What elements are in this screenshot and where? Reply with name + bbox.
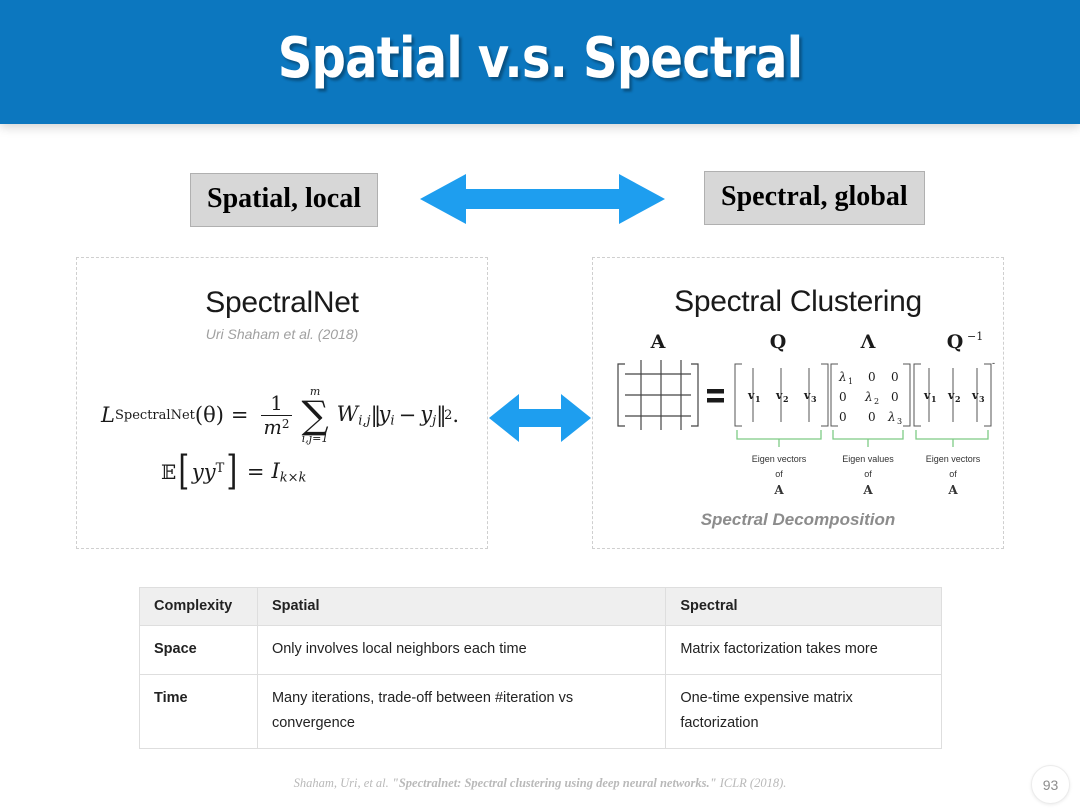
- double-arrow-icon: [420, 172, 665, 226]
- spectralnet-loss-formula: LSpectralNet(θ) = 1 m2 m ∑ i,j=1 Wi,j ‖ …: [101, 386, 469, 444]
- spectral-global-box: Spectral, global: [704, 171, 925, 225]
- page-title: Spatial v.s. Spectral: [76, 26, 1005, 91]
- eigenvector-v2: v: [775, 389, 783, 402]
- page-number-badge: 93: [1031, 765, 1070, 804]
- formula-theta-arg: (θ): [195, 403, 224, 427]
- brace-label-3-line2: of: [949, 469, 957, 479]
- svg-text:1: 1: [931, 394, 937, 404]
- table-row-label-space: Space: [140, 626, 258, 674]
- table-header-spectral: Spectral: [666, 588, 942, 626]
- spatial-local-box: Spatial, local: [190, 173, 378, 227]
- inverse-exponent: -1: [992, 359, 995, 369]
- spectralnet-title: SpectralNet: [77, 286, 487, 320]
- brace-label-2-line3: A: [862, 483, 873, 497]
- brace-label-1-line2: of: [775, 469, 783, 479]
- table-cell-space-spectral: Matrix factorization takes more: [666, 626, 942, 674]
- svg-text:0: 0: [839, 410, 847, 424]
- brace-label-1-line3: A: [773, 483, 784, 497]
- brace-group: [737, 430, 988, 447]
- formula-W: W: [337, 402, 359, 426]
- brace-label-1-line1: Eigen vectors: [752, 454, 807, 464]
- citation-title: "Spectralnet: Spectral clustering using …: [392, 776, 717, 790]
- matrix-label-Qinv-exponent: −1: [967, 330, 983, 343]
- brace-label-3-line1: Eigen vectors: [926, 454, 981, 464]
- title-banner: Spatial v.s. Spectral: [0, 0, 1080, 124]
- svg-text:λ: λ: [864, 390, 873, 404]
- matrix-label-Q: Q: [770, 331, 787, 353]
- table-row: Space Only involves local neighbors each…: [140, 626, 942, 674]
- diagonal-entries: λ1 0 0 0 λ2 0 0 0 λ3: [838, 370, 902, 426]
- svg-text:2: 2: [874, 397, 879, 406]
- formula-expectation: 𝔼: [161, 460, 176, 484]
- table-header-spatial: Spatial: [257, 588, 665, 626]
- table-cell-time-spectral: One-time expensive matrix factorization: [666, 674, 942, 748]
- table-cell-time-spatial: Many iterations, trade-off between #iter…: [257, 674, 665, 748]
- equals-sign: [707, 389, 724, 403]
- spectralnet-panel: SpectralNet Uri Shaham et al. (2018) LSp…: [76, 257, 488, 549]
- citation-suffix: ICLR (2018).: [717, 776, 787, 790]
- table-header-row: Complexity Spatial Spectral: [140, 588, 942, 626]
- svg-text:3: 3: [897, 417, 902, 426]
- spectral-decomposition-caption: Spectral Decomposition: [593, 510, 1003, 530]
- matrix-label-Qinv: Q: [947, 331, 964, 353]
- table-header-complexity: Complexity: [140, 588, 258, 626]
- complexity-table: Complexity Spatial Spectral Space Only i…: [139, 587, 942, 749]
- svg-text:v: v: [971, 389, 979, 402]
- eigenvector-v1: v: [747, 389, 755, 402]
- double-arrow-icon: [489, 392, 591, 444]
- matrix-label-Lambda: Λ: [860, 331, 876, 353]
- svg-text:1: 1: [755, 394, 761, 404]
- svg-text:0: 0: [839, 390, 847, 404]
- citation: Shaham, Uri, et al. "Spectralnet: Spectr…: [0, 776, 1080, 791]
- brace-label-2-line1: Eigen values: [842, 454, 894, 464]
- svg-text:0: 0: [868, 410, 876, 424]
- svg-text:3: 3: [979, 394, 985, 404]
- formula-L: L: [101, 403, 115, 427]
- svg-text:2: 2: [955, 394, 961, 404]
- formula-L-subscript: SpectralNet: [115, 408, 195, 423]
- formula-norm-open: ‖: [371, 403, 379, 427]
- svg-text:0: 0: [891, 390, 899, 404]
- svg-text:1: 1: [848, 377, 853, 386]
- brace-label-3-line3: A: [947, 483, 958, 497]
- svg-text:0: 0: [891, 370, 899, 384]
- spectral-clustering-title: Spectral Clustering: [593, 285, 1003, 319]
- table-row: Time Many iterations, trade-off between …: [140, 674, 942, 748]
- formula-fraction: 1 m2: [261, 392, 293, 439]
- formula-summation: m ∑ i,j=1: [301, 386, 328, 444]
- eigenvector-v3: v: [803, 389, 811, 402]
- svg-text:v: v: [947, 389, 955, 402]
- formula-equals: =: [231, 403, 249, 427]
- svg-text:0: 0: [868, 370, 876, 384]
- spectral-decomposition-diagram: A Q Λ Q −1: [603, 326, 995, 511]
- citation-prefix: Shaham, Uri, et al.: [294, 776, 392, 790]
- svg-text:v: v: [923, 389, 931, 402]
- formula-norm-close: ‖: [436, 403, 444, 427]
- matrix-A: [618, 360, 698, 430]
- spectral-clustering-panel: Spectral Clustering A Q Λ Q −1: [592, 257, 1004, 549]
- brace-label-2-line2: of: [864, 469, 872, 479]
- svg-text:2: 2: [783, 394, 789, 404]
- table-cell-space-spatial: Only involves local neighbors each time: [257, 626, 665, 674]
- table-row-label-time: Time: [140, 674, 258, 748]
- svg-text:λ: λ: [838, 370, 847, 384]
- spectralnet-subtitle: Uri Shaham et al. (2018): [77, 326, 487, 342]
- svg-text:3: 3: [811, 394, 817, 404]
- svg-text:λ: λ: [887, 410, 896, 424]
- matrix-label-A: A: [650, 331, 666, 353]
- spectralnet-constraint-formula: 𝔼 [ yyT ] = Ik×k: [161, 456, 306, 488]
